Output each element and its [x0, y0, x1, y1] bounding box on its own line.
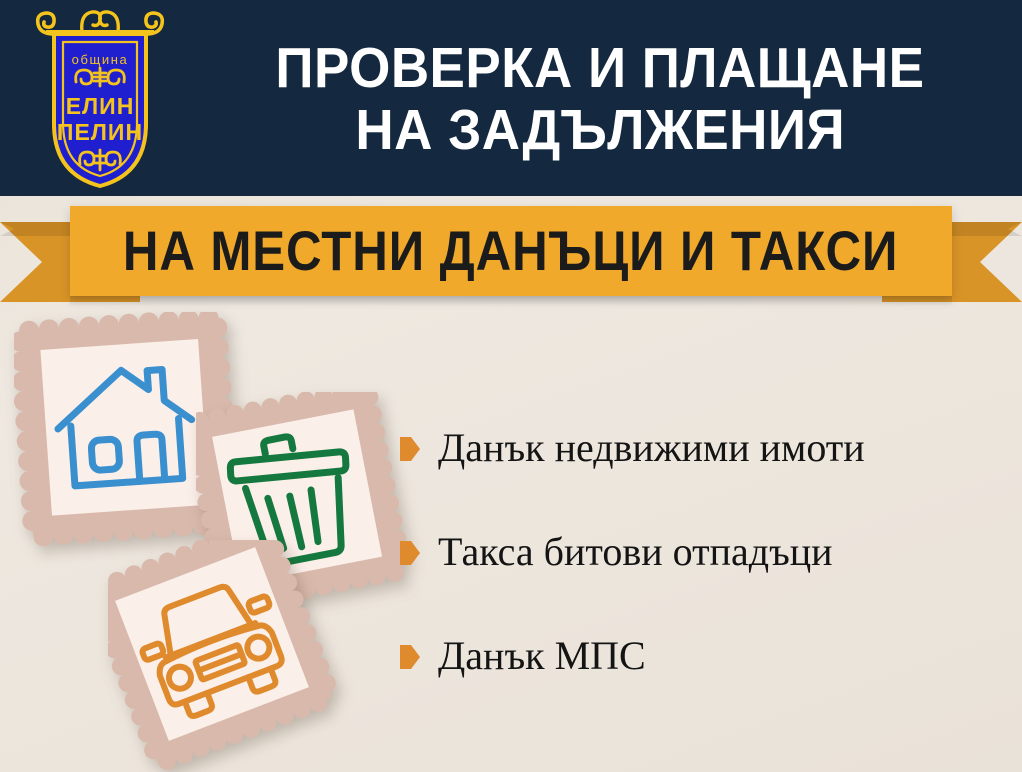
list-item-label: Данък недвижими имоти: [438, 425, 865, 471]
list-item-vehicle-tax[interactable]: Данък МПС: [400, 633, 1010, 679]
svg-text:община: община: [72, 52, 129, 67]
list-item-label: Такса битови отпадъци: [438, 529, 833, 575]
list-item-label: Данък МПС: [438, 633, 646, 679]
poster-title: ПРОВЕРКА И ПЛАЩАНЕ НА ЗАДЪЛЖЕНИЯ: [190, 14, 1010, 184]
list-item-waste-fee[interactable]: Такса битови отпадъци: [400, 529, 1010, 575]
coat-of-arms-icon: община ЕЛИН ПЕЛИН: [24, 6, 176, 192]
arrow-bullet-icon: [400, 541, 420, 565]
car-stamp-graphic: [108, 540, 358, 772]
ribbon-label: НА МЕСТНИ ДАНЪЦИ И ТАКСИ: [123, 222, 898, 280]
header-bar: община ЕЛИН ПЕЛИН: [0, 0, 1022, 196]
arrow-bullet-icon: [400, 645, 420, 669]
title-line-1: ПРОВЕРКА И ПЛАЩАНЕ: [275, 37, 924, 99]
ribbon-drop-shadow: [70, 296, 952, 306]
title-line-2: НА ЗАДЪЛЖЕНИЯ: [355, 99, 845, 161]
stamp-card-vehicle: [108, 540, 358, 772]
ribbon-banner: НА МЕСТНИ ДАНЪЦИ И ТАКСИ: [70, 206, 952, 296]
subtitle-ribbon: НА МЕСТНИ ДАНЪЦИ И ТАКСИ: [0, 200, 1022, 302]
svg-text:ПЕЛИН: ПЕЛИН: [57, 119, 143, 145]
arrow-bullet-icon: [400, 437, 420, 461]
svg-text:ЕЛИН: ЕЛИН: [66, 93, 135, 119]
municipality-crest-logo: община ЕЛИН ПЕЛИН: [24, 6, 176, 192]
tax-types-list: Данък недвижими имоти Такса битови отпад…: [400, 425, 1010, 679]
list-item-property-tax[interactable]: Данък недвижими имоти: [400, 425, 1010, 471]
poster-canvas: община ЕЛИН ПЕЛИН: [0, 0, 1022, 772]
